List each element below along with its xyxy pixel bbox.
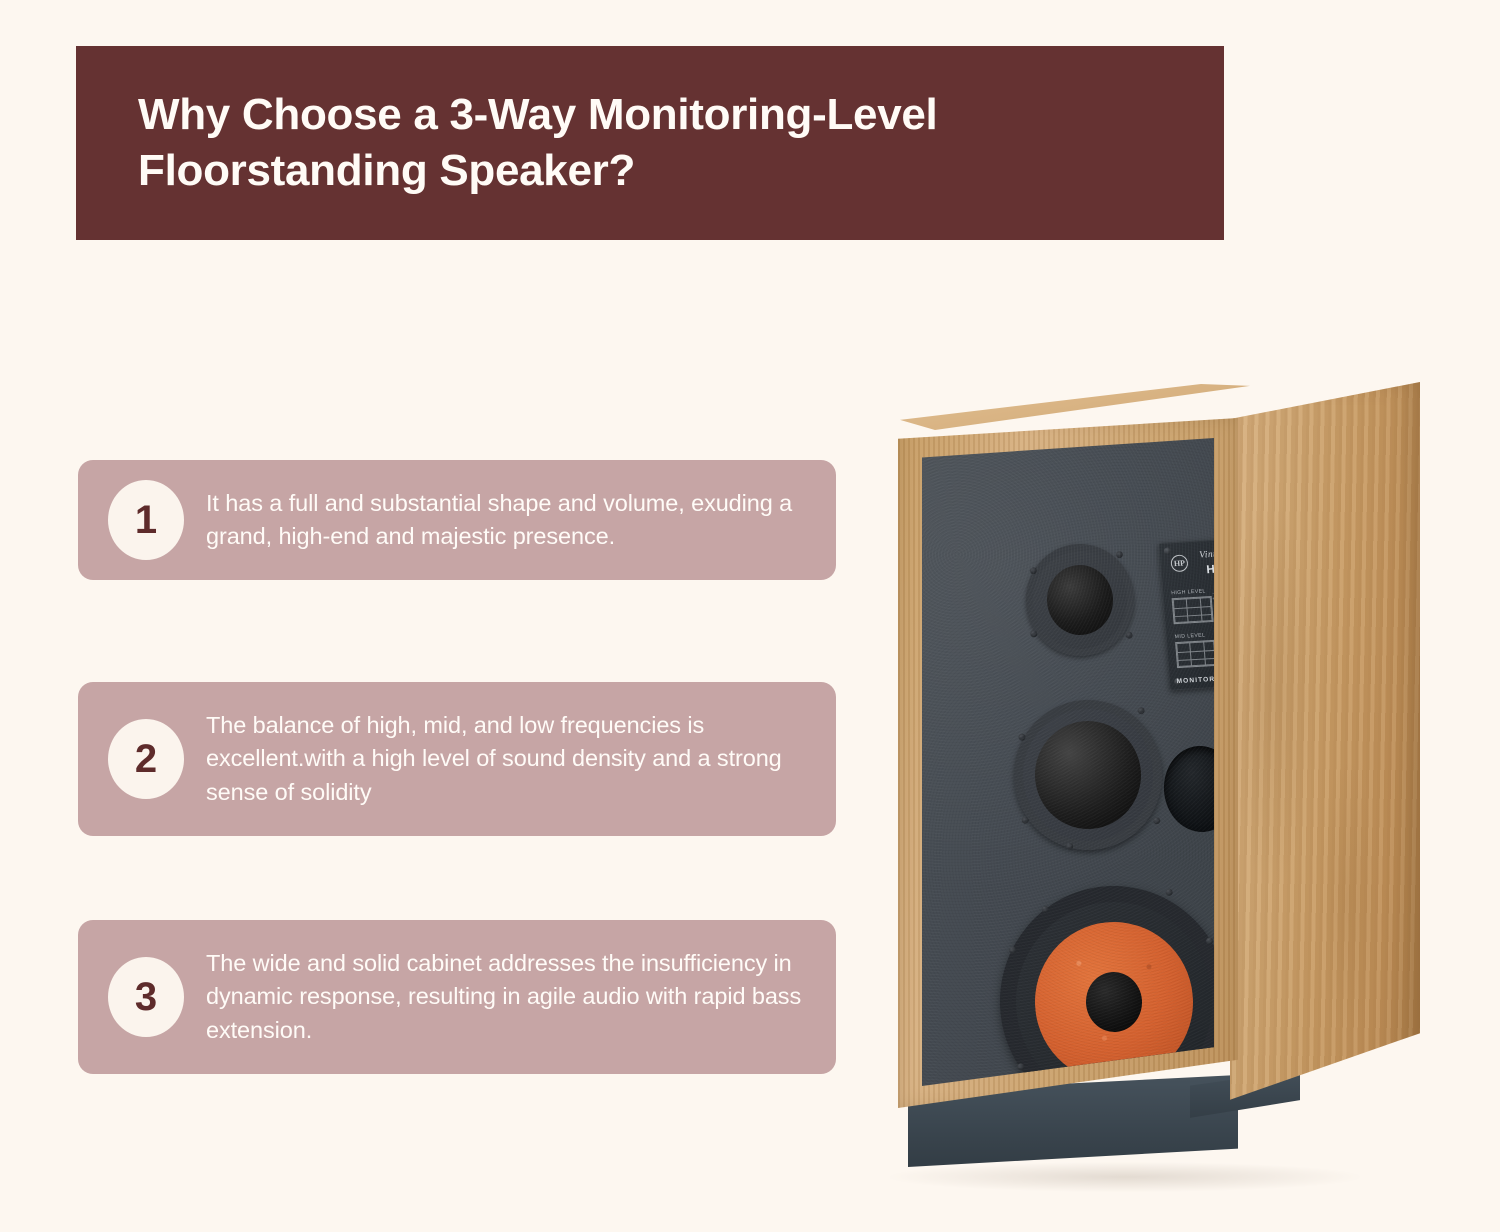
driver-screw [1030, 567, 1037, 574]
midrange-driver-icon [1008, 694, 1169, 856]
cabinet-side-panel [1230, 382, 1420, 1122]
mid-level-matrix: +3dB 0dB -3dB [1175, 640, 1217, 668]
driver-screw [1165, 888, 1173, 896]
feature-number-badge-2: 2 [108, 719, 184, 799]
feature-number-badge-3: 3 [108, 957, 184, 1037]
driver-screw [1030, 630, 1037, 637]
floor-shadow [890, 1162, 1360, 1192]
brand-logo-icon: HP [1170, 554, 1188, 572]
driver-screw [1009, 946, 1017, 954]
mid-level-control-group: MID LEVEL +3dB 0dB -3dB [1174, 632, 1217, 668]
feature-number-1: 1 [135, 500, 157, 540]
feature-number-2: 2 [135, 739, 157, 779]
tweeter-driver-icon [1022, 540, 1138, 659]
driver-screw [1116, 551, 1123, 558]
driver-screw [1018, 733, 1026, 741]
feature-number-badge-1: 1 [108, 480, 184, 560]
plate-screw [1174, 678, 1182, 685]
feature-number-3: 3 [135, 977, 157, 1017]
feature-card-1: 1 It has a full and substantial shape an… [78, 460, 836, 580]
feature-text-1: It has a full and substantial shape and … [206, 487, 810, 554]
woofer-dust-cap [1083, 970, 1144, 1035]
speaker-baffle: HP Vintage HT-12 HIGH LEVEL +3dB 0dB -3d… [922, 438, 1214, 1086]
driver-screw [1153, 817, 1161, 825]
tweeter-dome [1045, 563, 1116, 637]
feature-card-3: 3 The wide and solid cabinet addresses t… [78, 920, 836, 1074]
feature-list: 1 It has a full and substantial shape an… [78, 460, 836, 1074]
plate-screw [1164, 547, 1172, 554]
feature-text-2: The balance of high, mid, and low freque… [206, 709, 810, 809]
driver-screw [1017, 1063, 1025, 1071]
high-level-control-group: HIGH LEVEL +3dB 0dB -3dB [1171, 588, 1214, 624]
page-title: Why Choose a 3-Way Monitoring-Level Floo… [76, 87, 1136, 200]
high-level-label: HIGH LEVEL [1171, 588, 1211, 596]
feature-card-2: 2 The balance of high, mid, and low freq… [78, 682, 836, 836]
mid-level-label: MID LEVEL [1174, 632, 1214, 640]
speaker-product-image: HP Vintage HT-12 HIGH LEVEL +3dB 0dB -3d… [860, 370, 1460, 1200]
header-banner: Why Choose a 3-Way Monitoring-Level Floo… [76, 46, 1224, 240]
driver-screw [1137, 707, 1145, 715]
feature-text-3: The wide and solid cabinet addresses the… [206, 947, 810, 1047]
high-level-matrix: +3dB 0dB -3dB [1172, 596, 1214, 624]
driver-screw [1206, 937, 1214, 945]
driver-screw [1066, 843, 1074, 851]
driver-screw [1041, 905, 1049, 913]
driver-screw [1125, 631, 1132, 638]
driver-screw [1021, 816, 1029, 824]
midrange-dome [1030, 717, 1145, 834]
